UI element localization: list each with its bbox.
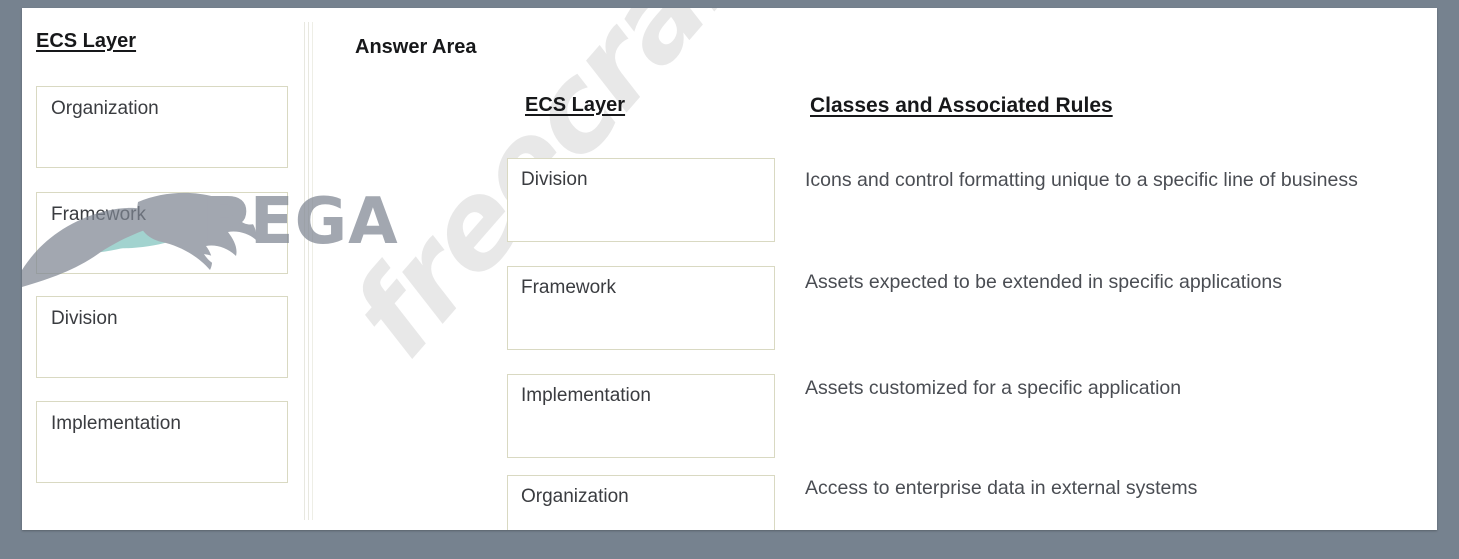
answer-dropzone-4[interactable]: Organization <box>507 475 775 530</box>
column-header-classes-and-rules: Classes and Associated Rules <box>810 94 1113 118</box>
answer-dropzone-1[interactable]: Division <box>507 158 775 242</box>
divider-line <box>312 22 313 520</box>
answer-rule-text-3: Assets customized for a specific applica… <box>805 376 1430 401</box>
divider-line <box>304 22 305 520</box>
source-item-framework[interactable]: Framework <box>36 192 288 274</box>
source-item-label: Division <box>51 308 118 330</box>
source-panel: ECS Layer Organization Framework Divisio… <box>22 8 300 530</box>
answer-rule-text-1: Icons and control formatting unique to a… <box>805 168 1430 193</box>
answer-rule-text-2: Assets expected to be extended in specif… <box>805 270 1430 295</box>
divider-line <box>308 22 309 520</box>
panel-divider <box>304 22 313 520</box>
answer-area-title: Answer Area <box>355 36 477 59</box>
column-header-ecs-layer: ECS Layer <box>525 94 625 117</box>
source-item-division[interactable]: Division <box>36 296 288 378</box>
source-item-label: Organization <box>51 98 159 120</box>
question-sheet: ECS Layer Organization Framework Divisio… <box>22 8 1437 530</box>
answer-dropzone-label: Organization <box>521 486 629 508</box>
answer-dropzone-label: Division <box>521 169 588 191</box>
source-item-label: Framework <box>51 204 146 226</box>
answer-dropzone-label: Implementation <box>521 385 651 407</box>
source-item-organization[interactable]: Organization <box>36 86 288 168</box>
source-item-implementation[interactable]: Implementation <box>36 401 288 483</box>
answer-dropzone-2[interactable]: Framework <box>507 266 775 350</box>
answer-dropzone-label: Framework <box>521 277 616 299</box>
answer-area: Answer Area ECS Layer Classes and Associ… <box>313 8 1437 530</box>
source-item-label: Implementation <box>51 413 181 435</box>
source-panel-title: ECS Layer <box>36 30 136 53</box>
answer-dropzone-3[interactable]: Implementation <box>507 374 775 458</box>
answer-rule-text-4: Access to enterprise data in external sy… <box>805 476 1430 501</box>
